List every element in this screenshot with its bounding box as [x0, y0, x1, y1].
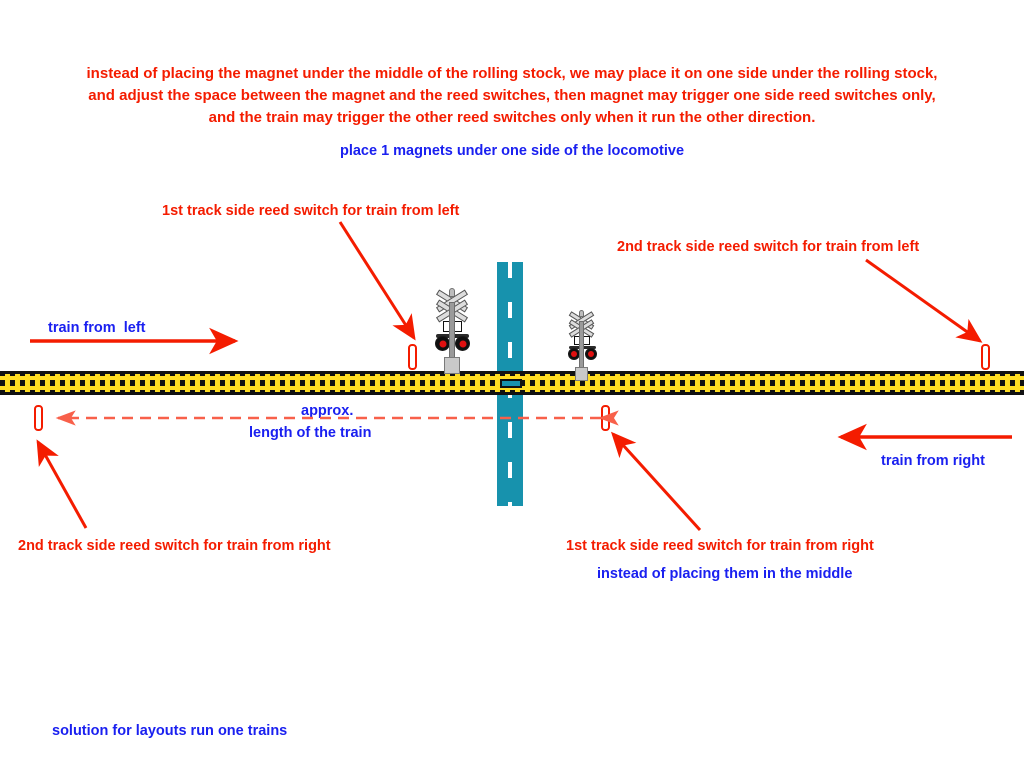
reed-switch-2nd-from-left [981, 344, 990, 370]
leader-arrow-reed-2nd-from-left [866, 260, 980, 341]
label-length-of-train: length of the train [249, 424, 371, 443]
label-reed-2nd-from-right: 2nd track side reed switch for train fro… [18, 537, 331, 556]
leader-arrow-reed-2nd-from-right [38, 442, 86, 528]
magnet-marker [500, 379, 522, 388]
signal-base [444, 357, 460, 374]
signal-pole [449, 302, 455, 362]
header-line-3: and the train may trigger the other reed… [0, 108, 1024, 127]
header-line-1: instead of placing the magnet under the … [0, 64, 1024, 83]
label-train-from-left: train from left [48, 319, 145, 338]
diagram-canvas: instead of placing the magnet under the … [0, 0, 1024, 768]
signal-lamp-right-icon [455, 336, 470, 351]
header-line-2: and adjust the space between the magnet … [0, 86, 1024, 105]
reed-switch-1st-from-right [601, 405, 610, 431]
leader-arrow-reed-1st-from-left [340, 222, 414, 338]
track-edge-bottom [0, 392, 1024, 395]
leader-arrow-reed-1st-from-right [613, 434, 700, 530]
signal2-lamp-right-icon [585, 348, 597, 360]
signal2-pole [579, 321, 584, 371]
label-reed-2nd-from-left: 2nd track side reed switch for train fro… [617, 238, 919, 257]
reed-switch-2nd-from-right [34, 405, 43, 431]
header-subtitle: place 1 magnets under one side of the lo… [0, 142, 1024, 161]
label-reed-1st-from-right: 1st track side reed switch for train fro… [566, 537, 874, 556]
label-reed-1st-from-left: 1st track side reed switch for train fro… [162, 202, 459, 221]
label-solution: solution for layouts run one trains [52, 722, 287, 741]
label-approx: approx. [301, 402, 353, 421]
label-train-from-right: train from right [881, 452, 985, 471]
crossing-signal-right: 2 TRACKS [565, 310, 599, 380]
signal-lamp-left-icon [435, 336, 450, 351]
track-edge-top [0, 371, 1024, 374]
reed-switch-1st-from-left [408, 344, 417, 370]
crossing-signal-left: 2 TRACKS [430, 288, 474, 376]
signal2-base [575, 367, 588, 381]
label-instead-middle: instead of placing them in the middle [597, 565, 852, 584]
